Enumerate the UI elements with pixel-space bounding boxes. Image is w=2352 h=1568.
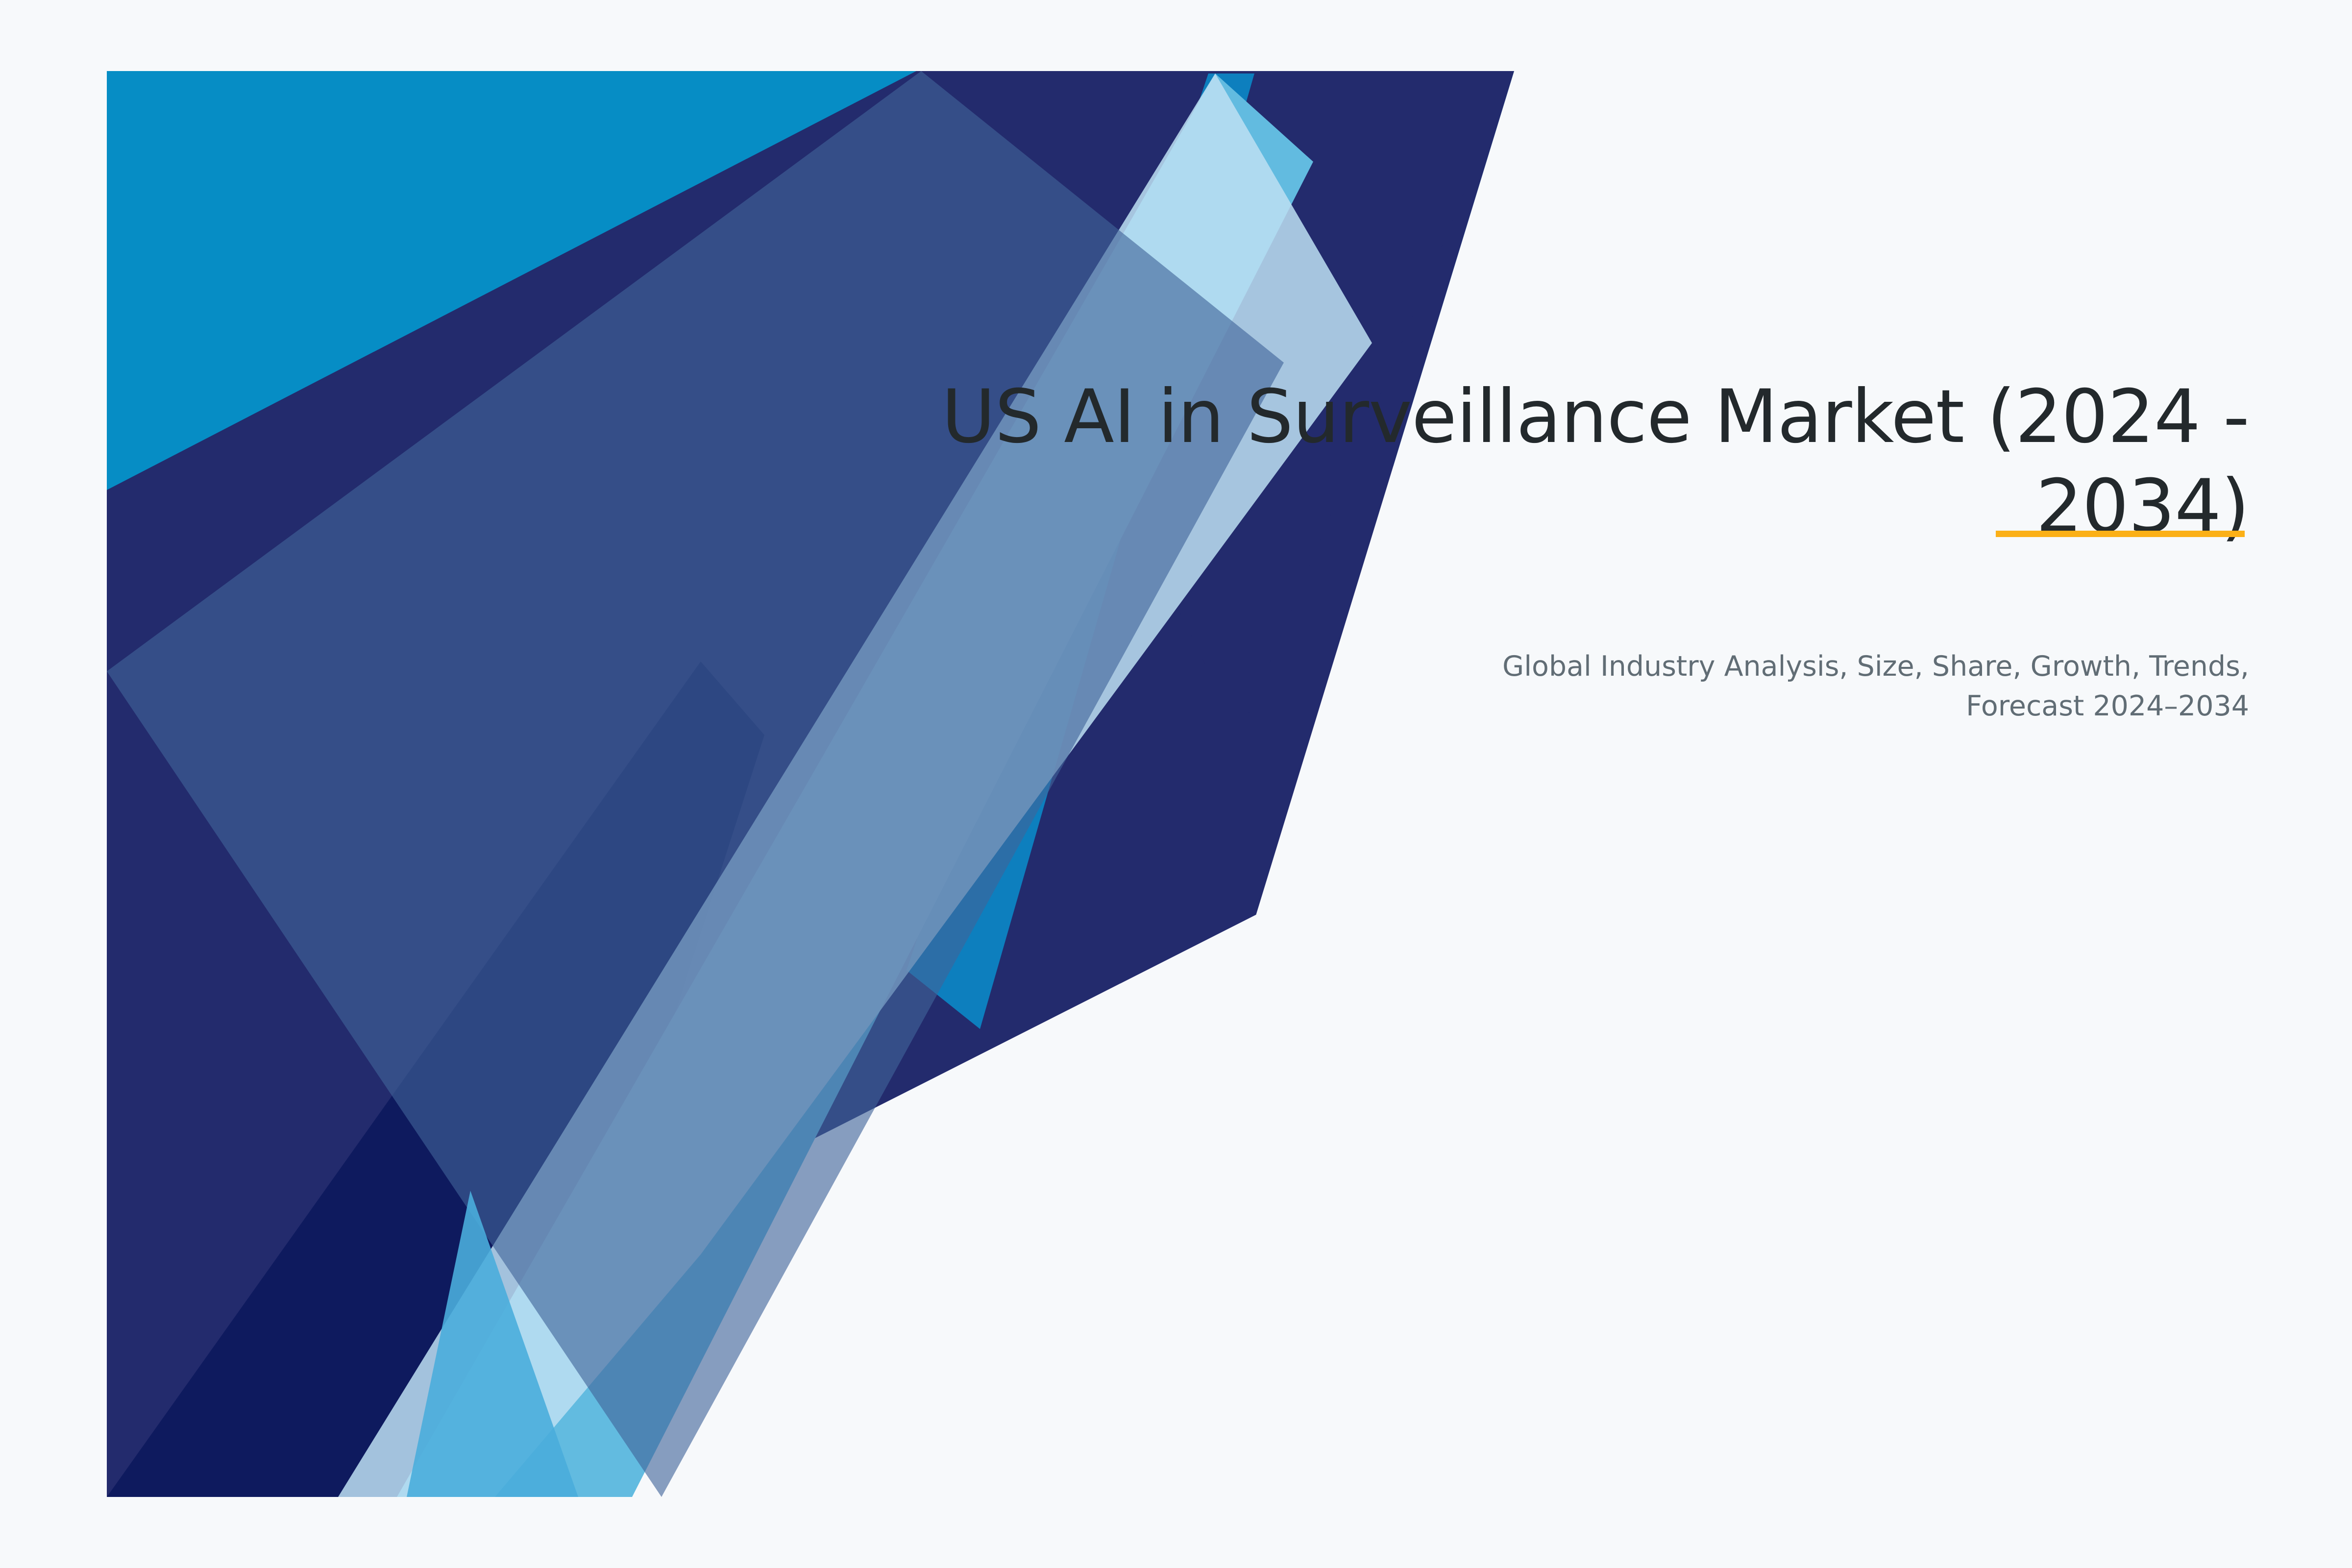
page-title: US AI in Surveillance Market (2024 - 203…	[906, 372, 2249, 552]
abstract-geometric-cover-graphic	[0, 0, 2352, 1568]
page-subtitle: Global Industry Analysis, Size, Share, G…	[1470, 647, 2249, 726]
title-accent-underline	[1996, 531, 2245, 537]
cover-page: US AI in Surveillance Market (2024 - 203…	[0, 0, 2352, 1568]
title-block: US AI in Surveillance Market (2024 - 203…	[906, 372, 2249, 552]
